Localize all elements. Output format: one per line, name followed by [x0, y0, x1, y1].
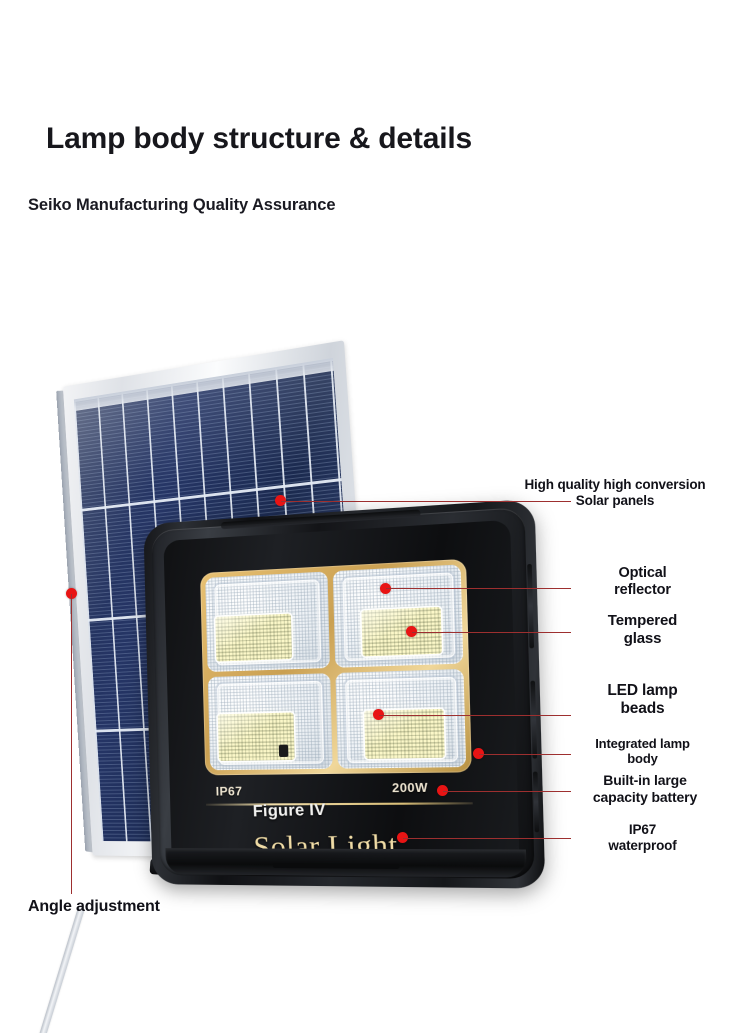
led-bead-grid: [216, 613, 292, 661]
stand-arm: [35, 907, 85, 1033]
led-module: [205, 571, 329, 671]
light-sensor-icon: [279, 745, 289, 757]
annotation-integrated-lamp-body: Integrated lamp body: [560, 736, 725, 767]
annotation-ip67-waterproof: IP67 waterproof: [560, 822, 725, 854]
led-module: [335, 668, 466, 768]
faceplate-divider: [206, 802, 473, 805]
product-ip-rating: IP67: [216, 784, 243, 798]
leader-line-integrated-body: [479, 754, 571, 755]
annotation-line-1: Optical: [560, 565, 725, 582]
annotation-line-1: Angle adjustment: [28, 898, 160, 915]
annotation-line-2: glass: [560, 630, 725, 648]
flood-lamp-body: IP67 200W Figure IV Solar Light: [143, 499, 545, 889]
product-wattage: 200W: [392, 780, 428, 795]
leader-line-angle-adjustment: [71, 594, 72, 894]
led-panel-array: [200, 559, 472, 776]
lamp-bottom-slot: [273, 863, 400, 869]
annotation-optical-reflector: Optical reflector: [560, 565, 725, 599]
product-figure-label: Figure IV: [252, 801, 326, 821]
annotation-line-1: LED lamp: [560, 682, 725, 700]
led-module: [208, 673, 332, 771]
leader-line-ip67: [403, 838, 571, 839]
annotation-line-2: Solar panels: [500, 493, 730, 509]
led-bead-grid: [218, 712, 294, 761]
annotation-line-2: capacity battery: [560, 789, 730, 806]
angle-adjust-stand: [32, 908, 120, 1033]
annotation-led-lamp-beads: LED lamp beads: [560, 682, 725, 719]
annotation-line-2: beads: [560, 700, 725, 718]
annotation-line-2: reflector: [560, 582, 725, 599]
annotation-line-1: Built-in large: [560, 772, 730, 789]
infographic-page: Lamp body structure & details Seiko Manu…: [0, 0, 750, 1033]
annotation-line-1: Integrated lamp: [560, 736, 725, 751]
annotation-line-2: body: [560, 751, 725, 766]
annotation-line-2: waterproof: [560, 838, 725, 854]
leader-line-tempered-glass: [412, 632, 571, 633]
lamp-front-face: IP67 200W Figure IV Solar Light: [163, 520, 519, 867]
leader-line-optical-reflector: [386, 588, 571, 589]
page-subtitle: Seiko Manufacturing Quality Assurance: [28, 196, 335, 215]
leader-line-battery: [443, 791, 571, 792]
page-title: Lamp body structure & details: [46, 122, 472, 156]
annotation-solar-panels: High quality high conversion Solar panel…: [500, 477, 730, 509]
led-module: [332, 564, 463, 667]
leader-line-led-beads: [379, 715, 571, 716]
annotation-built-in-battery: Built-in large capacity battery: [560, 772, 730, 805]
annotation-line-1: High quality high conversion: [524, 477, 705, 492]
annotation-line-1: Tempered: [560, 612, 725, 630]
annotation-tempered-glass: Tempered glass: [560, 612, 725, 647]
annotation-line-1: IP67: [560, 822, 725, 838]
annotation-angle-adjustment: Angle adjustment: [28, 898, 160, 917]
